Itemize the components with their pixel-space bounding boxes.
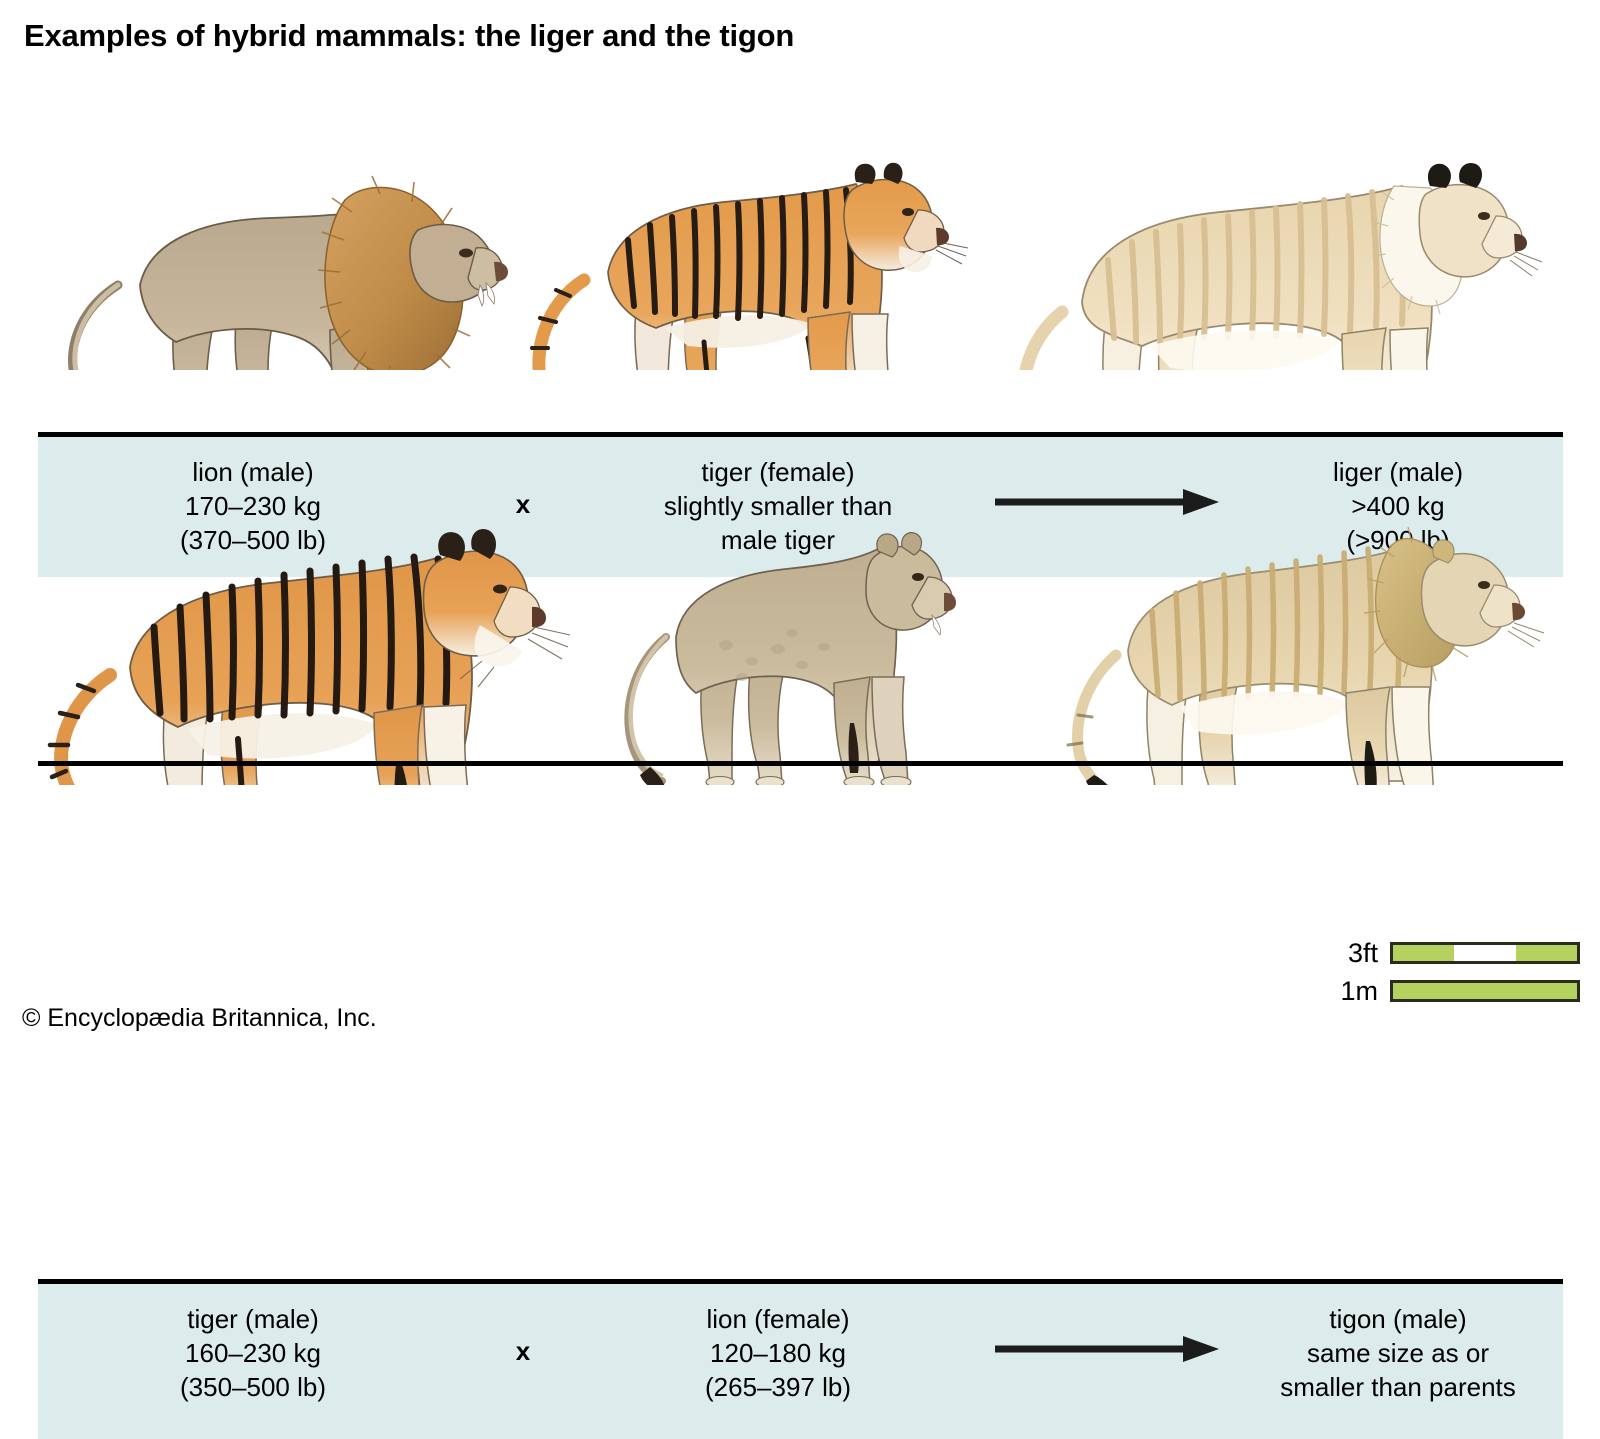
arrow-right-icon xyxy=(991,487,1221,517)
offspring-mass-lb: smaller than parents xyxy=(1233,1370,1563,1404)
scale-segment xyxy=(1393,983,1577,999)
copyright-credit: © Encyclopædia Britannica, Inc. xyxy=(22,1004,377,1033)
ground-line-row2 xyxy=(38,761,1563,766)
row2-arrow-cell xyxy=(978,1284,1233,1364)
scale-bar-meter xyxy=(1390,980,1580,1002)
parent-b-name: lion (female) xyxy=(578,1302,978,1336)
cross-symbol-row1: x xyxy=(468,437,578,520)
offspring-name: liger (male) xyxy=(1233,455,1563,489)
scale-label-feet: 3ft xyxy=(1348,940,1378,967)
parent-a-name: lion (male) xyxy=(38,455,468,489)
lion-female-illustration xyxy=(628,533,956,785)
scale-row-meter: 1m xyxy=(1260,976,1580,1006)
cross-symbol-text: x xyxy=(468,437,578,520)
tiger-male-illustration xyxy=(50,529,570,785)
tigon-cross-row: tiger (male) 160–230 kg (350–500 lb) x l… xyxy=(0,515,1600,925)
parent-a-name: tiger (male) xyxy=(38,1302,468,1336)
parent-b-name: tiger (female) xyxy=(578,455,978,489)
scale-row-feet: 3ft xyxy=(1260,938,1580,968)
scale-segment xyxy=(1393,945,1454,961)
parent-a-mass-lb: (350–500 lb) xyxy=(38,1370,468,1404)
offspring-mass-kg: same size as or xyxy=(1233,1336,1563,1370)
tiger-female-illustration xyxy=(532,163,968,370)
offspring-name: tigon (male) xyxy=(1233,1302,1563,1336)
lion-male-illustration xyxy=(73,176,508,370)
lion-female-label: lion (female) 120–180 kg (265–397 lb) xyxy=(578,1284,978,1404)
arrow-right-icon xyxy=(991,1334,1221,1364)
scale-bar-legend: 3ft 1m xyxy=(1260,938,1580,1006)
tigon-cross-panel: tiger (male) 160–230 kg (350–500 lb) x l… xyxy=(38,1279,1563,1439)
scale-segment xyxy=(1454,945,1515,961)
parent-b-mass-lb: (265–397 lb) xyxy=(578,1370,978,1404)
cross-symbol-row2: x xyxy=(468,1284,578,1367)
scale-segment xyxy=(1516,945,1577,961)
tiger-male-label: tiger (male) 160–230 kg (350–500 lb) xyxy=(38,1284,468,1404)
row2-illustrations xyxy=(0,515,1600,785)
liger-male-illustration xyxy=(1016,163,1542,370)
tigon-male-label: tigon (male) same size as or smaller tha… xyxy=(1233,1284,1563,1404)
row1-arrow-cell xyxy=(978,437,1233,517)
cross-symbol-text: x xyxy=(468,1284,578,1367)
scale-bar-feet xyxy=(1390,942,1580,964)
tigon-male-illustration xyxy=(1068,527,1544,785)
scale-label-meter: 1m xyxy=(1340,978,1378,1005)
row1-illustrations xyxy=(0,80,1600,370)
parent-b-mass-kg: 120–180 kg xyxy=(578,1336,978,1370)
page-title: Examples of hybrid mammals: the liger an… xyxy=(24,18,794,54)
parent-a-mass-kg: 160–230 kg xyxy=(38,1336,468,1370)
liger-cross-row: lion (male) 170–230 kg (370–500 lb) x ti… xyxy=(0,80,1600,500)
